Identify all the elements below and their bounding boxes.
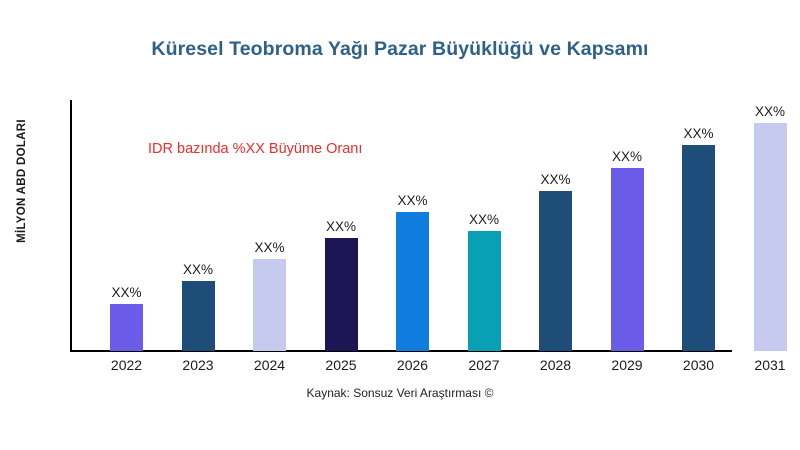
x-tick-label: 2026 — [382, 357, 443, 373]
bar-group[interactable]: XX% — [682, 145, 715, 351]
bar-group[interactable]: XX% — [325, 238, 358, 351]
bar[interactable] — [396, 212, 429, 351]
x-tick-label: 2023 — [168, 357, 229, 373]
bar[interactable] — [754, 123, 787, 351]
bar-value-label: XX% — [382, 193, 443, 208]
bar-value-label: XX% — [96, 285, 157, 300]
plot-area: XX%2022XX%2023XX%2024XX%2025XX%2026XX%20… — [0, 0, 800, 450]
bar-value-label: XX% — [454, 212, 515, 227]
bar[interactable] — [253, 259, 286, 351]
growth-rate-annotation: IDR bazında %XX Büyüme Oranı — [148, 141, 362, 157]
bar-group[interactable]: XX% — [110, 304, 143, 351]
bar[interactable] — [682, 145, 715, 351]
bar-group[interactable]: XX% — [611, 168, 644, 351]
x-tick-label: 2031 — [740, 357, 800, 373]
y-axis-line — [70, 100, 72, 351]
bar-group[interactable]: XX% — [182, 281, 215, 351]
bar[interactable] — [611, 168, 644, 351]
bar[interactable] — [539, 191, 572, 351]
bar-group[interactable]: XX% — [253, 259, 286, 351]
x-tick-label: 2027 — [454, 357, 515, 373]
bar-value-label: XX% — [597, 149, 658, 164]
bar-value-label: XX% — [525, 172, 586, 187]
bar-group[interactable]: XX% — [468, 231, 501, 351]
bar-chart: Küresel Teobroma Yağı Pazar Büyüklüğü ve… — [0, 0, 800, 450]
bar[interactable] — [182, 281, 215, 351]
x-tick-label: 2030 — [668, 357, 729, 373]
bar-value-label: XX% — [239, 240, 300, 255]
bar-group[interactable]: XX% — [754, 123, 787, 351]
bar-value-label: XX% — [668, 126, 729, 141]
bar[interactable] — [325, 238, 358, 351]
bar-value-label: XX% — [168, 262, 229, 277]
source-note: Kaynak: Sonsuz Veri Araştırması © — [0, 386, 800, 400]
x-tick-label: 2028 — [525, 357, 586, 373]
x-tick-label: 2029 — [597, 357, 658, 373]
x-tick-label: 2022 — [96, 357, 157, 373]
bar-group[interactable]: XX% — [396, 212, 429, 351]
bar-value-label: XX% — [740, 104, 800, 119]
x-tick-label: 2024 — [239, 357, 300, 373]
bar[interactable] — [110, 304, 143, 351]
bar-group[interactable]: XX% — [539, 191, 572, 351]
bar[interactable] — [468, 231, 501, 351]
bar-value-label: XX% — [311, 219, 372, 234]
x-tick-label: 2025 — [311, 357, 372, 373]
